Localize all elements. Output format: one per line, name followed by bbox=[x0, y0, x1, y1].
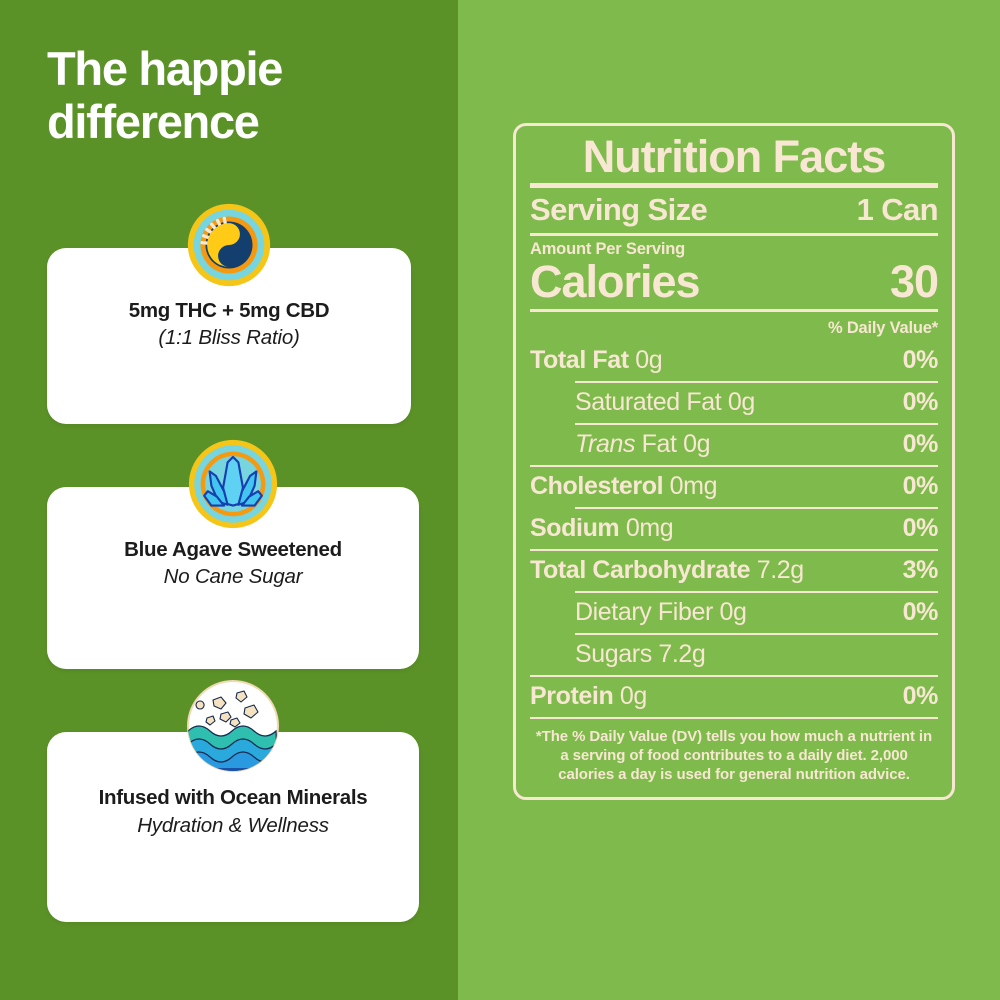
nutrient-name-amount: Total Fat 0g bbox=[530, 345, 662, 376]
divider bbox=[530, 465, 938, 468]
serving-size-value: 1 Can bbox=[857, 192, 938, 228]
feature-subtitle: No Cane Sugar bbox=[65, 564, 401, 590]
divider bbox=[575, 423, 938, 426]
nutrient-name-amount: Trans Fat 0g bbox=[575, 429, 710, 460]
nutrient-amount: 0mg bbox=[670, 472, 717, 500]
nutrient-amount: 7.2g bbox=[757, 556, 804, 584]
nutrient-name: Sugars bbox=[575, 640, 658, 668]
nutrient-amount: 0mg bbox=[626, 514, 673, 542]
nutrient-name: Fat bbox=[642, 430, 683, 458]
nutrient-daily-value: 0% bbox=[903, 681, 938, 712]
nutrient-name-amount: Protein 0g bbox=[530, 681, 647, 712]
nutrient-row: Dietary Fiber 0g0% bbox=[530, 595, 938, 631]
feature-title: Blue Agave Sweetened bbox=[65, 539, 401, 560]
calories-value: 30 bbox=[890, 258, 938, 305]
nutrient-amount: 0g bbox=[635, 346, 662, 374]
nutrient-italic-word: Trans bbox=[575, 430, 642, 458]
ocean-minerals-badge-icon bbox=[183, 676, 283, 776]
feature-card-blue-agave: Blue Agave Sweetened No Cane Sugar bbox=[47, 487, 419, 669]
calories-label: Calories bbox=[530, 258, 700, 305]
divider bbox=[530, 309, 938, 312]
divider bbox=[530, 675, 938, 678]
nutrient-row: Total Carbohydrate 7.2g3% bbox=[530, 553, 938, 589]
nutrient-name: Cholesterol bbox=[530, 472, 670, 500]
divider bbox=[575, 381, 938, 384]
divider bbox=[575, 507, 938, 510]
nutrient-row: Trans Fat 0g0% bbox=[530, 427, 938, 463]
nutrient-row: Saturated Fat 0g0% bbox=[530, 385, 938, 421]
nutrient-daily-value: 0% bbox=[903, 471, 938, 502]
feature-card-list: 5mg THC + 5mg CBD (1:1 Bliss Ratio) bbox=[47, 248, 411, 985]
nutrient-name: Dietary Fiber bbox=[575, 598, 719, 626]
nutrient-amount: 0g bbox=[719, 598, 746, 626]
nutrition-facts-panel: Nutrition Facts Serving Size 1 Can Amoun… bbox=[513, 123, 955, 800]
feature-subtitle: Hydration & Wellness bbox=[65, 813, 401, 839]
nutrient-daily-value: 0% bbox=[903, 597, 938, 628]
nutrient-amount: 0g bbox=[683, 430, 710, 458]
nutrient-name-amount: Dietary Fiber 0g bbox=[575, 597, 746, 628]
nutrient-daily-value: 0% bbox=[903, 429, 938, 460]
nutrient-name-amount: Sodium 0mg bbox=[530, 513, 673, 544]
divider bbox=[575, 591, 938, 594]
nutrient-row: Total Fat 0g0% bbox=[530, 343, 938, 379]
page-title: The happie difference bbox=[47, 43, 282, 148]
nutrient-name-amount: Sugars 7.2g bbox=[575, 639, 705, 670]
amount-per-serving-label: Amount Per Serving bbox=[530, 238, 938, 258]
divider bbox=[530, 233, 938, 236]
nutrient-daily-value: 0% bbox=[903, 513, 938, 544]
daily-value-header: % Daily Value* bbox=[530, 314, 938, 343]
nutrient-row: Sugars 7.2g bbox=[530, 637, 938, 673]
nutrient-daily-value: 0% bbox=[903, 345, 938, 376]
feature-subtitle: (1:1 Bliss Ratio) bbox=[65, 325, 393, 351]
left-panel: The happie difference bbox=[0, 0, 458, 1000]
nutrient-amount: 7.2g bbox=[658, 640, 705, 668]
nutrient-name-amount: Total Carbohydrate 7.2g bbox=[530, 555, 804, 586]
sun-moon-badge-icon bbox=[187, 203, 271, 287]
divider bbox=[530, 183, 938, 188]
feature-title: Infused with Ocean Minerals bbox=[65, 788, 401, 809]
nutrition-facts-title: Nutrition Facts bbox=[530, 134, 938, 181]
nutrient-name: Protein bbox=[530, 682, 620, 710]
divider bbox=[575, 633, 938, 636]
nutrient-row: Cholesterol 0mg0% bbox=[530, 469, 938, 505]
serving-size-label: Serving Size bbox=[530, 192, 707, 228]
product-info-graphic: The happie difference bbox=[0, 0, 1000, 1000]
nutrient-name-amount: Cholesterol 0mg bbox=[530, 471, 717, 502]
daily-value-footnote: *The % Daily Value (DV) tells you how mu… bbox=[530, 721, 938, 787]
nutrient-row: Protein 0g0% bbox=[530, 679, 938, 715]
nutrient-name: Total Carbohydrate bbox=[530, 556, 757, 584]
nutrient-name: Saturated Fat bbox=[575, 388, 728, 416]
feature-card-thc-cbd: 5mg THC + 5mg CBD (1:1 Bliss Ratio) bbox=[47, 248, 411, 424]
nutrient-daily-value: 0% bbox=[903, 387, 938, 418]
nutrient-name: Total Fat bbox=[530, 346, 635, 374]
nutrient-amount: 0g bbox=[620, 682, 647, 710]
calories-row: Calories 30 bbox=[530, 258, 938, 307]
serving-size-row: Serving Size 1 Can bbox=[530, 190, 938, 231]
feature-card-ocean-minerals: Infused with Ocean Minerals Hydration & … bbox=[47, 732, 419, 922]
nutrient-name-amount: Saturated Fat 0g bbox=[575, 387, 755, 418]
feature-title: 5mg THC + 5mg CBD bbox=[65, 300, 393, 321]
nutrient-amount: 0g bbox=[728, 388, 755, 416]
nutrient-daily-value: 3% bbox=[903, 555, 938, 586]
nutrient-row: Sodium 0mg0% bbox=[530, 511, 938, 547]
right-panel: Nutrition Facts Serving Size 1 Can Amoun… bbox=[458, 0, 1000, 1000]
divider bbox=[530, 549, 938, 552]
nutrient-name: Sodium bbox=[530, 514, 626, 542]
nutrient-row-list: Total Fat 0g0%Saturated Fat 0g0%Trans Fa… bbox=[530, 343, 938, 715]
agave-plant-badge-icon bbox=[188, 439, 278, 529]
divider bbox=[530, 717, 938, 720]
